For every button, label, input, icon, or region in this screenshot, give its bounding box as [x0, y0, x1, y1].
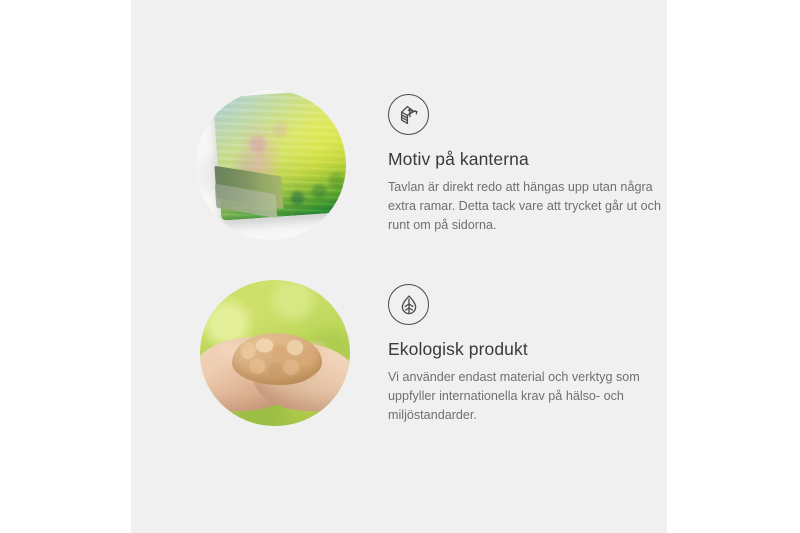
leaf-glyph [397, 293, 421, 317]
wood-chips-pile [232, 333, 322, 386]
leaf-icon [388, 284, 429, 325]
hands-wood-chips-photo [200, 280, 350, 426]
canvas-wrapped-edges-glyph [397, 103, 421, 127]
feature-block-ecological: Ekologisk produkt Vi använder endast mat… [200, 280, 666, 426]
product-feature-banner: Motiv på kanterna Tavlan är direkt redo … [0, 0, 800, 533]
feature-text-edges: Motiv på kanterna Tavlan är direkt redo … [388, 90, 666, 235]
content-panel [131, 0, 667, 533]
canvas-corner-photo [196, 90, 346, 240]
feature-text-ecological: Ekologisk produkt Vi använder endast mat… [388, 280, 666, 425]
feature-title-ecological: Ekologisk produkt [388, 339, 666, 360]
feature-body-ecological: Vi använder endast material och verktyg … [388, 368, 666, 425]
feature-title-edges: Motiv på kanterna [388, 149, 666, 170]
canvas-wrapped-edges-icon [388, 94, 429, 135]
feature-body-edges: Tavlan är direkt redo att hängas upp uta… [388, 178, 666, 235]
feature-block-edges: Motiv på kanterna Tavlan är direkt redo … [196, 90, 666, 240]
